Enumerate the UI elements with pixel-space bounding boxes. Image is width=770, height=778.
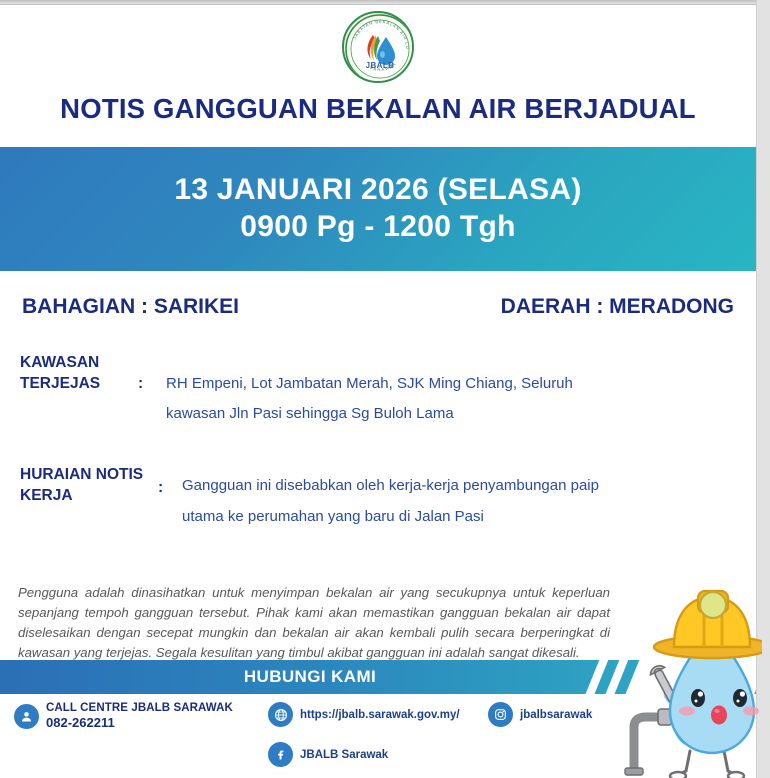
contact-banner-title: HUBUNGI KAMI: [0, 660, 620, 694]
logo-container: JABATAN BEKALAN AIR LUAR BANDAR SARAWAK …: [0, 11, 756, 83]
globe-icon: [268, 702, 293, 727]
contact-instagram[interactable]: jbalbsarawak: [488, 702, 592, 727]
work-description-block: HURAIAN NOTIS KERJA : Gangguan ini diseb…: [20, 465, 732, 533]
affected-areas-block: KAWASAN TERJEJAS : RH Empeni, Lot Jambat…: [20, 353, 732, 429]
contact-call-centre[interactable]: CALL CENTRE JBALB SARAWAK 082-262211: [14, 701, 233, 732]
affected-areas-value: RH Empeni, Lot Jambatan Merah, SJK Ming …: [166, 353, 573, 429]
instagram-handle: jbalbsarawak: [520, 709, 592, 721]
schedule-date: 13 JANUARI 2026 (SELASA): [174, 172, 581, 209]
jbalb-logo-icon: JABATAN BEKALAN AIR LUAR BANDAR SARAWAK …: [342, 11, 414, 83]
svg-text:JBALB: JBALB: [366, 61, 395, 70]
call-centre-number: 082-262211: [46, 715, 233, 731]
schedule-banner: 13 JANUARI 2026 (SELASA) 0900 Pg - 1200 …: [0, 147, 756, 271]
work-description-line: utama ke perumahan yang baru di Jalan Pa…: [182, 502, 599, 533]
contact-website[interactable]: https://jbalb.sarawak.gov.my/: [268, 702, 460, 727]
facebook-icon: [268, 742, 293, 767]
call-centre-name: CALL CENTRE JBALB SARAWAK: [46, 701, 233, 715]
notice-sheet: JABATAN BEKALAN AIR LUAR BANDAR SARAWAK …: [0, 5, 756, 778]
affected-areas-label: KAWASAN TERJEJAS: [20, 353, 138, 429]
page-title: NOTIS GANGGUAN BEKALAN AIR BERJADUAL: [0, 93, 756, 125]
work-description-value: Gangguan ini disebabkan oleh kerja-kerja…: [182, 465, 599, 533]
advisory-text: Pengguna adalah dinasihatkan untuk menyi…: [18, 583, 610, 663]
work-description-colon: :: [158, 465, 182, 533]
website-url: https://jbalb.sarawak.gov.my/: [300, 709, 460, 721]
location-row: BAHAGIAN : SARIKEI DAERAH : MERADONG: [0, 295, 756, 319]
schedule-time: 0900 Pg - 1200 Tgh: [240, 209, 516, 246]
district-label: DAERAH : MERADONG: [501, 295, 734, 319]
affected-areas-colon: :: [138, 353, 166, 429]
affected-areas-line: kawasan Jln Pasi sehingga Sg Buloh Lama: [166, 399, 573, 429]
division-label: BAHAGIAN : SARIKEI: [22, 295, 239, 319]
water-droplet-mascot: [612, 565, 762, 778]
notice-page: JABATAN BEKALAN AIR LUAR BANDAR SARAWAK …: [0, 0, 770, 778]
instagram-icon: [488, 702, 513, 727]
person-icon: [14, 704, 39, 729]
facebook-page: JBALB Sarawak: [300, 749, 388, 761]
contact-facebook[interactable]: JBALB Sarawak: [268, 742, 388, 767]
work-description-label: HURAIAN NOTIS KERJA: [20, 465, 158, 533]
work-description-line: Gangguan ini disebabkan oleh kerja-kerja…: [182, 471, 599, 502]
affected-areas-line: RH Empeni, Lot Jambatan Merah, SJK Ming …: [166, 369, 573, 399]
